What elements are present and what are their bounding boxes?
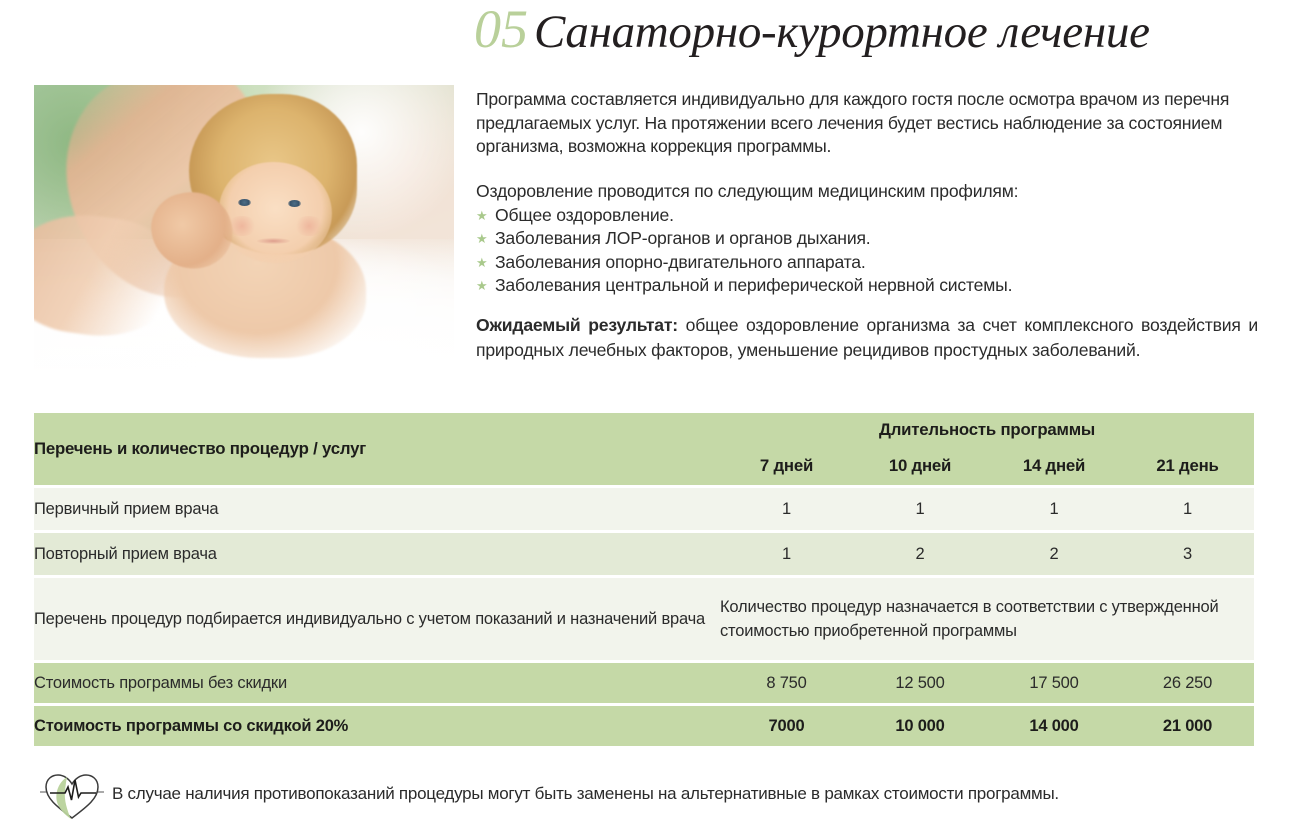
page-title: 05 Санаторно-курортное лечение <box>474 2 1264 64</box>
star-icon: ★ <box>476 205 487 227</box>
expected-result-label: Ожидаемый результат: <box>476 315 678 335</box>
row-value: 26 250 <box>1121 660 1254 703</box>
star-icon: ★ <box>476 275 487 297</box>
section-number: 05 <box>474 2 528 56</box>
row-value: 10 000 <box>853 703 987 746</box>
photo-child-face <box>219 162 332 263</box>
star-icon: ★ <box>476 228 487 250</box>
star-icon: ★ <box>476 252 487 274</box>
row-value: 17 500 <box>987 660 1121 703</box>
photo-cheek-right <box>294 216 323 237</box>
row-label: Повторный прием врача <box>34 530 720 575</box>
profiles-block: Оздоровление проводится по следующим мед… <box>476 180 1258 298</box>
table-header-row: Перечень и количество процедур / услуг Д… <box>34 413 1254 447</box>
list-item: ★ Заболевания опорно-двигательного аппар… <box>476 251 1258 275</box>
table-header-group: Длительность программы <box>720 413 1254 447</box>
list-item-label: Общее оздоровление. <box>495 205 674 225</box>
row-label: Первичный прием врача <box>34 485 720 530</box>
table-row: Повторный прием врача 1 2 2 3 <box>34 530 1254 575</box>
row-value: 12 500 <box>853 660 987 703</box>
row-value: 1 <box>1121 485 1254 530</box>
profiles-list: ★ Общее оздоровление. ★ Заболевания ЛОР-… <box>476 204 1258 298</box>
merged-row-label: Перечень процедур подбирается индивидуал… <box>34 575 720 660</box>
row-value: 2 <box>987 530 1121 575</box>
profiles-lead: Оздоровление проводится по следующим мед… <box>476 180 1258 204</box>
list-item-label: Заболевания опорно-двигательного аппарат… <box>495 252 866 272</box>
row-label: Стоимость программы со скидкой 20% <box>34 703 720 746</box>
row-value: 7000 <box>720 703 853 746</box>
table-row: Стоимость программы без скидки 8 750 12 … <box>34 660 1254 703</box>
footer-note-text: В случае наличия противопоказаний процед… <box>112 784 1059 804</box>
table-header-duration-1: 10 дней <box>853 447 987 485</box>
row-value: 1 <box>853 485 987 530</box>
table-header-duration-2: 14 дней <box>987 447 1121 485</box>
heart-pulse-icon <box>34 766 106 822</box>
list-item: ★ Заболевания центральной и периферическ… <box>476 274 1258 298</box>
list-item-label: Заболевания ЛОР-органов и органов дыхани… <box>495 228 870 248</box>
row-value: 14 000 <box>987 703 1121 746</box>
list-item: ★ Общее оздоровление. <box>476 204 1258 228</box>
table-header-name: Перечень и количество процедур / услуг <box>34 413 720 485</box>
photo-eye-left <box>238 199 251 206</box>
table-row-highlight: Стоимость программы со скидкой 20% 7000 … <box>34 703 1254 746</box>
row-value: 2 <box>853 530 987 575</box>
section-title: Санаторно-курортное лечение <box>534 6 1150 58</box>
row-value: 8 750 <box>720 660 853 703</box>
photo-mouth <box>257 238 291 244</box>
expected-result-paragraph: Ожидаемый результат: общее оздоровление … <box>476 313 1258 363</box>
program-table: Перечень и количество процедур / услуг Д… <box>34 413 1254 746</box>
table-header-duration-0: 7 дней <box>720 447 853 485</box>
row-value: 1 <box>987 485 1121 530</box>
table-header-duration-3: 21 день <box>1121 447 1254 485</box>
row-label: Стоимость программы без скидки <box>34 660 720 703</box>
intro-paragraph: Программа составляется индивидуально для… <box>476 88 1258 159</box>
table-row-merged: Перечень процедур подбирается индивидуал… <box>34 575 1254 660</box>
list-item: ★ Заболевания ЛОР-органов и органов дыха… <box>476 227 1258 251</box>
list-item-label: Заболевания центральной и периферической… <box>495 275 1012 295</box>
merged-row-note: Количество процедур назначается в соотве… <box>720 575 1254 660</box>
row-value: 21 000 <box>1121 703 1254 746</box>
row-value: 1 <box>720 530 853 575</box>
table-row: Первичный прием врача 1 1 1 1 <box>34 485 1254 530</box>
row-value: 3 <box>1121 530 1254 575</box>
row-value: 1 <box>720 485 853 530</box>
footer-note-block: В случае наличия противопоказаний процед… <box>34 766 1259 822</box>
massage-photo <box>34 85 454 382</box>
